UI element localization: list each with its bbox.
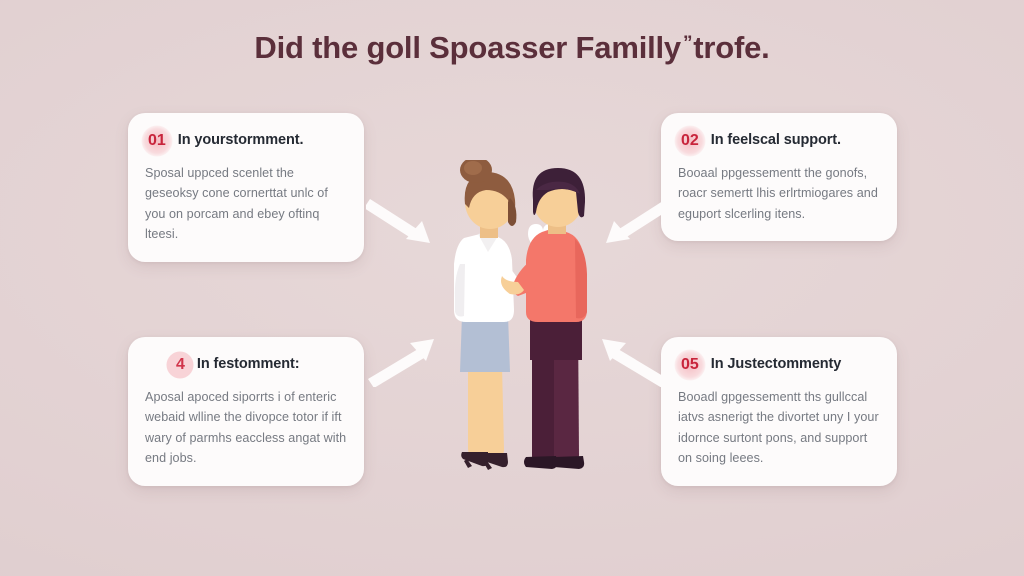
page-title: Did the goll Spoasser Familly”trofe. [0, 30, 1024, 66]
info-card-02[interactable]: 02 In feelscal support. Booaal ppgesseme… [661, 113, 897, 241]
man-shirt-shade [574, 238, 587, 318]
card-number-badge-01: 01 [145, 128, 169, 154]
card-title-05: In Justectommenty [711, 356, 841, 373]
page-title-tail: trofe. [693, 30, 769, 65]
card-body-01: Sposal uppced scenlet the geseoksy cone … [145, 163, 347, 245]
card-header: 01 In yourstormment. [145, 128, 347, 154]
card-number-badge-02: 02 [678, 128, 702, 154]
couple-illustration [424, 160, 616, 490]
card-title-01: In yourstormment. [178, 132, 304, 149]
man-shoe-back [552, 456, 584, 469]
info-card-01[interactable]: 01 In yourstormment. Sposal uppced scenl… [128, 113, 364, 262]
card-number-badge-04: 4 [173, 352, 188, 378]
card-number-badge-05: 05 [678, 352, 702, 378]
card-title-04: In festomment: [197, 356, 300, 373]
card-body-04: Aposal apoced siporrts i of enteric weba… [145, 387, 347, 469]
woman-leg-back [484, 365, 504, 458]
infographic-canvas: Did the goll Spoasser Familly”trofe. 01 … [0, 0, 1024, 576]
woman-hair-bun-highlight [464, 161, 482, 175]
card-header: 05 In Justectommenty [678, 352, 880, 378]
card-header: 4 In festomment: [145, 352, 347, 378]
info-card-04[interactable]: 4 In festomment: Aposal apoced siporrts … [128, 337, 364, 486]
card-body-05: Booadl gpgessementt ths gullccal iatvs a… [678, 387, 880, 469]
card-title-02: In feelscal support. [711, 132, 841, 149]
info-card-05[interactable]: 05 In Justectommenty Booadl gpgessementt… [661, 337, 897, 486]
card-body-02: Booaal ppgessementt the gonofs, roacr se… [678, 163, 880, 224]
page-title-quote-mark: ” [681, 33, 693, 54]
page-title-main: Did the goll Spoasser Familly [254, 30, 681, 65]
woman-skirt [460, 315, 510, 372]
card-header: 02 In feelscal support. [678, 128, 880, 154]
